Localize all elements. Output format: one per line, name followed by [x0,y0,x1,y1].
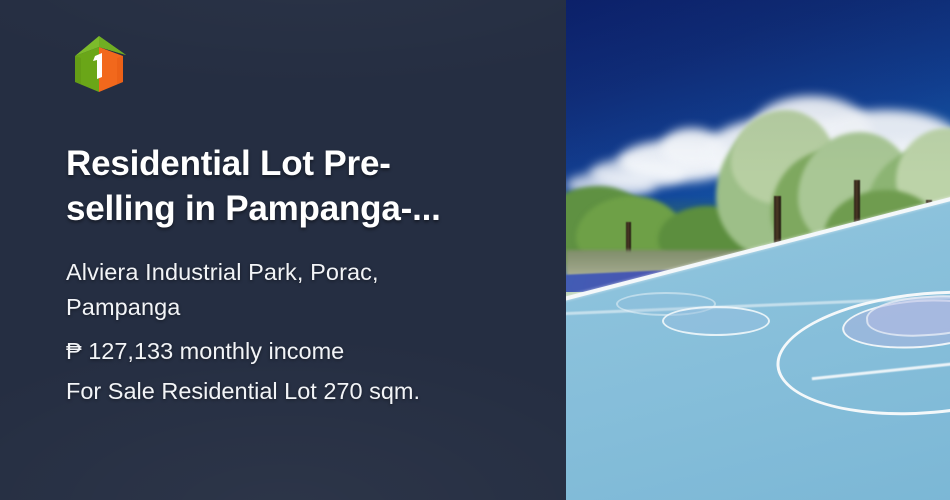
photo-scene [566,0,950,500]
listing-spec: For Sale Residential Lot 270 sqm. [66,374,536,409]
listing-address: Alviera Industrial Park, Porac, Pampanga [66,255,536,325]
basketball-court-photo[interactable] [566,0,950,500]
property-listing-card[interactable]: Residential Lot Pre-selling in Pampanga-… [0,0,950,500]
listing-details: Alviera Industrial Park, Porac, Pampanga… [66,255,536,409]
court-center-circle [662,306,770,336]
info-panel: Residential Lot Pre-selling in Pampanga-… [0,0,566,500]
house-number-one-logo[interactable] [68,34,130,94]
listing-income: ₱ 127,133 monthly income [66,334,536,369]
page-title: Residential Lot Pre-selling in Pampanga-… [66,141,486,231]
